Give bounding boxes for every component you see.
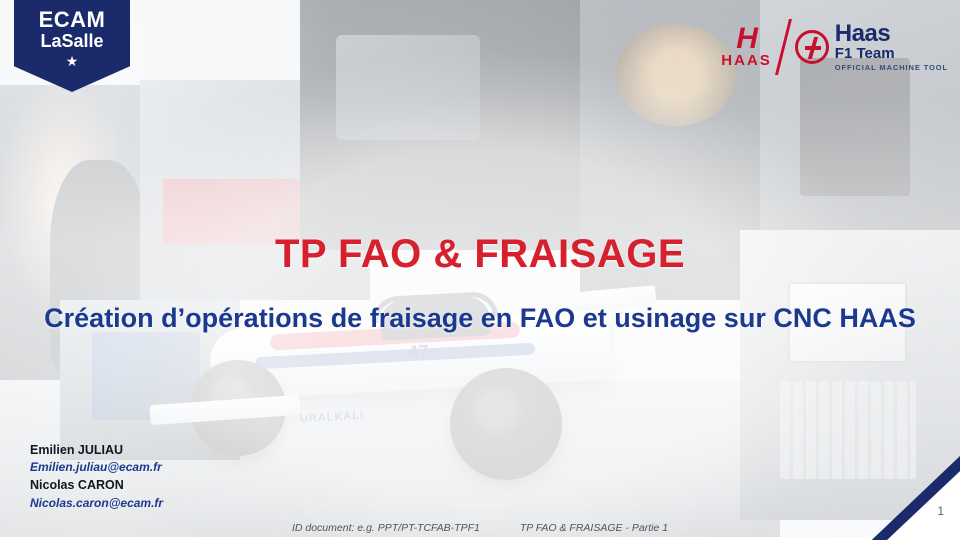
haas-automation-logo: H HAAS (721, 25, 772, 69)
haas-f1-line1: Haas (835, 22, 948, 46)
ecam-logo-line2: LaSalle (14, 31, 130, 52)
star-icon: ★ (14, 53, 130, 70)
author-name: Nicolas CARON (30, 476, 163, 494)
haas-f1-tagline: OFFICIAL MACHINE TOOL (835, 64, 948, 72)
author-name: Emilien JULIAU (30, 441, 163, 459)
haas-circle-icon (795, 30, 829, 64)
logo-divider (775, 19, 792, 75)
haas-logo-group: H HAAS Haas F1 Team OFFICIAL MACHINE TOO… (721, 10, 948, 84)
author-list: Emilien JULIAU Emilien.juliau@ecam.fr Ni… (30, 441, 163, 512)
footer-document-id: ID document: e.g. PPT/PT-TCFAB-TPF1 (292, 522, 480, 534)
slide-footer: ID document: e.g. PPT/PT-TCFAB-TPF1 TP F… (0, 522, 960, 534)
slide-title: TP FAO & FRAISAGE (0, 232, 960, 277)
author-email[interactable]: Nicolas.caron@ecam.fr (30, 495, 163, 512)
presentation-title-slide: 47 URALKALI ECAM LaSalle ★ H HAAS Haas F… (0, 0, 960, 540)
ecam-logo-line1: ECAM (14, 7, 130, 33)
footer-document-title: TP FAO & FRAISAGE - Partie 1 (520, 522, 668, 534)
author-email[interactable]: Emilien.juliau@ecam.fr (30, 459, 163, 476)
slide-subtitle: Création d’opérations de fraisage en FAO… (0, 302, 960, 336)
haas-f1-line2: F1 Team (835, 46, 948, 61)
haas-f1-team-logo: Haas F1 Team OFFICIAL MACHINE TOOL (795, 22, 948, 72)
page-number: 1 (937, 504, 944, 518)
haas-f1-text: Haas F1 Team OFFICIAL MACHINE TOOL (835, 22, 948, 72)
haas-wordmark: HAAS (721, 52, 772, 69)
haas-h-mark-icon: H (736, 25, 757, 52)
